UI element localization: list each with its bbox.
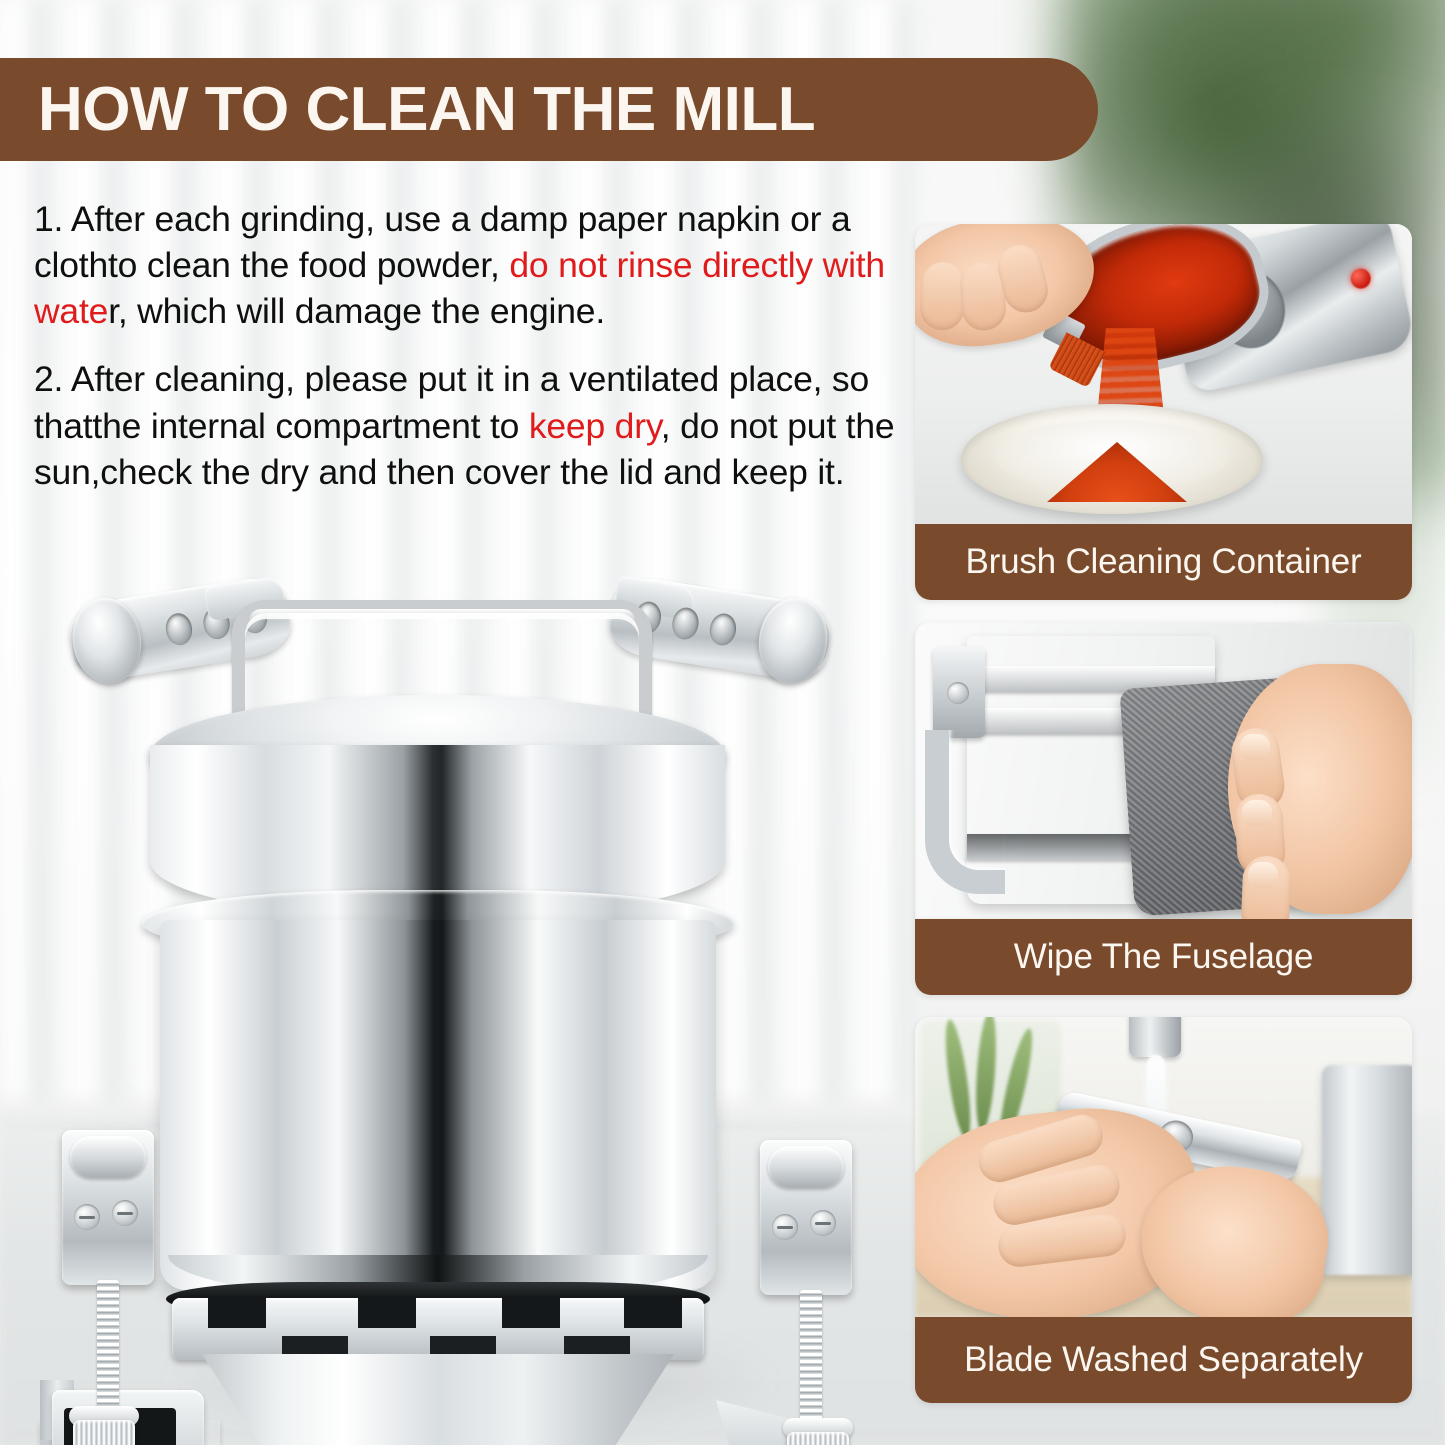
thumb-screw-left (73, 1420, 135, 1445)
clamp-block-left (62, 1130, 154, 1285)
instruction-1-part-3: r, which will damage the engine. (108, 291, 605, 331)
clamp-arm-left-knuckle (67, 593, 148, 689)
collar-notch (358, 1298, 416, 1328)
collar-notch (624, 1298, 682, 1328)
faucet-icon (1129, 1017, 1181, 1057)
page-title: HOW TO CLEAN THE MILL (0, 74, 815, 145)
phillips-screw-icon (810, 1210, 836, 1236)
step-card-wipe-fuselage[interactable]: Wipe The Fuselage (915, 622, 1412, 995)
step-photo-cards: Brush Cleaning Container (915, 224, 1412, 1425)
motor-housing-taper (202, 1354, 674, 1445)
phillips-screw-icon (112, 1200, 138, 1226)
infographic-page: HOW TO CLEAN THE MILL 1. After each grin… (0, 0, 1445, 1445)
clamp-arm-right-knuckle (753, 593, 834, 689)
page-title-banner: HOW TO CLEAN THE MILL (0, 58, 1098, 161)
clamp-arm-hole (164, 611, 195, 647)
clamp-arm-hole (708, 612, 739, 648)
thumb-screw-right (787, 1432, 849, 1445)
product-grinder-image (0, 520, 900, 1445)
instruction-item-2: 2. After cleaning, please put it in a ve… (34, 356, 896, 494)
grinding-bowl (160, 920, 716, 1290)
power-led-icon (1349, 267, 1373, 291)
collar-notch (502, 1298, 560, 1328)
step-card-brush-cleaning[interactable]: Brush Cleaning Container (915, 224, 1412, 600)
photo-wipe-fuselage (915, 622, 1412, 919)
clamp-block-right (760, 1140, 852, 1295)
photo1-finger (919, 261, 965, 330)
photo2-hand (1228, 664, 1412, 914)
clamp-block-right-cylinder (768, 1146, 844, 1188)
photo-blade-washed-scene (915, 1017, 1412, 1317)
step-card-caption: Wipe The Fuselage (915, 919, 1412, 995)
photo2-fingernail (1248, 862, 1278, 888)
step-card-caption: Blade Washed Separately (915, 1317, 1412, 1403)
phillips-screw-icon (947, 682, 969, 704)
photo2-side-elbow (925, 730, 1005, 894)
photo-wipe-fuselage-scene (915, 622, 1412, 919)
photo3-canister (1322, 1065, 1412, 1275)
photo-brush-cleaning (915, 224, 1412, 524)
locking-collar (172, 1298, 704, 1360)
photo-brush-cleaning-scene (915, 224, 1412, 524)
step-card-caption: Brush Cleaning Container (915, 524, 1412, 600)
step-card-blade-washed[interactable]: Blade Washed Separately (915, 1017, 1412, 1403)
photo-blade-washed (915, 1017, 1412, 1317)
photo2-fingernail (1240, 734, 1270, 760)
phillips-screw-icon (74, 1204, 100, 1230)
phillips-screw-icon (772, 1214, 798, 1240)
instruction-item-1: 1. After each grinding, use a damp paper… (34, 196, 896, 334)
photo2-clamp-block (933, 646, 985, 738)
collar-notch (208, 1298, 266, 1328)
photo2-fingernail (1242, 800, 1272, 826)
clamp-block-left-cylinder (70, 1136, 146, 1178)
instruction-2-warning: keep dry (529, 406, 661, 446)
instructions-block: 1. After each grinding, use a damp paper… (34, 196, 896, 517)
